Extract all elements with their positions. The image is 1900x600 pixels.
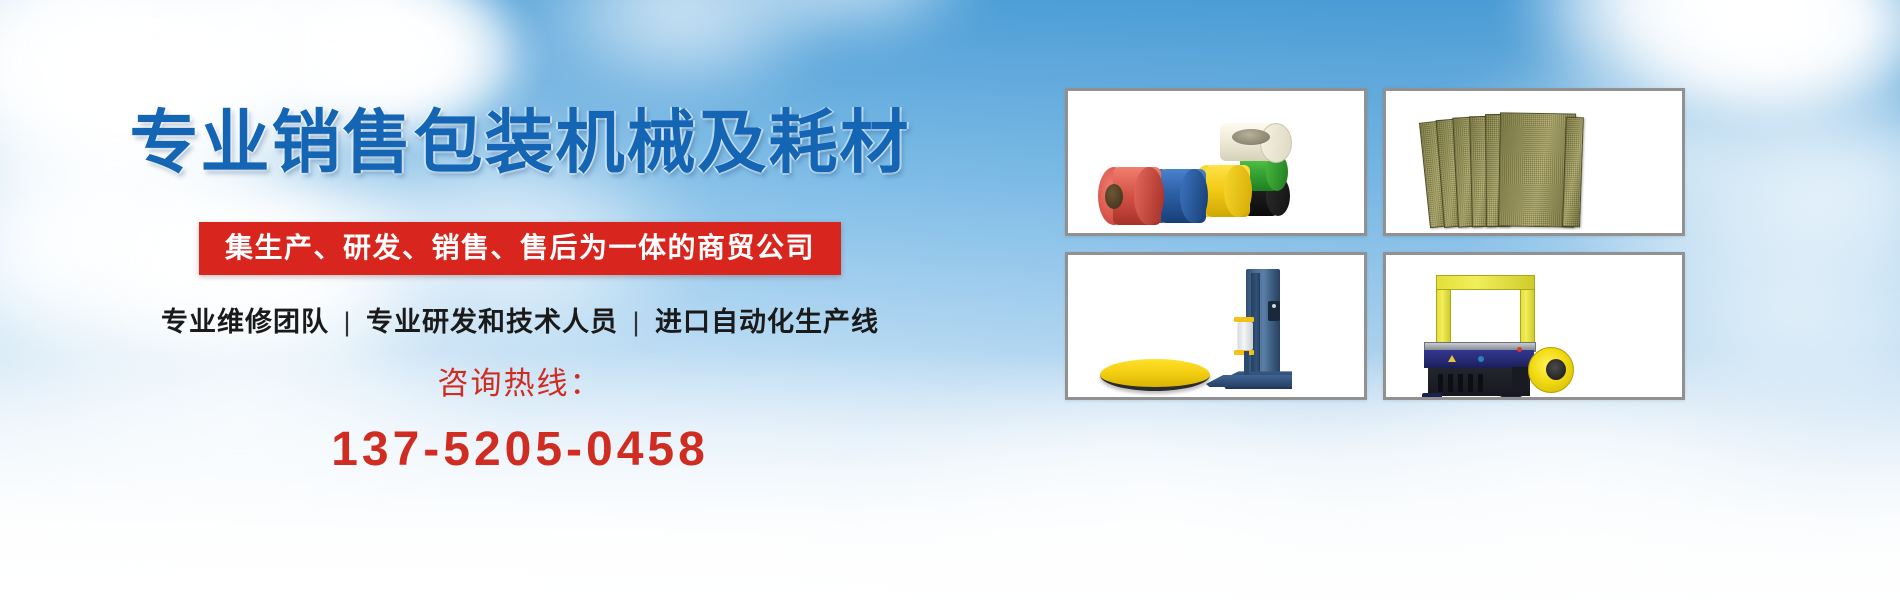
machine-foot-left: [1422, 393, 1442, 400]
strapping-machine-image: [1386, 255, 1682, 397]
product-gallery: [1065, 88, 1685, 400]
hotline-label: 咨询热线：: [0, 358, 1040, 403]
wrapper-turntable: [1100, 359, 1210, 391]
wrapper-indicator-light: [1272, 304, 1276, 308]
strap-roll-core: [1105, 184, 1123, 209]
woven-sacks-image: [1386, 91, 1682, 233]
feature-item-2: 专业研发和技术人员: [366, 307, 618, 337]
strap-roll-white: [1220, 123, 1290, 161]
warning-triangle-icon: [1448, 355, 1456, 362]
product-card-strapping-machine[interactable]: [1383, 252, 1685, 400]
woven-sack: [1562, 117, 1584, 228]
machine-vent-slot: [1478, 374, 1483, 392]
machine-reel-hub: [1546, 359, 1566, 380]
product-card-stretch-wrapper[interactable]: [1065, 252, 1367, 400]
promotional-banner: 专业销售包装机械及耗材 集生产、研发、销售、售后为一体的商贸公司 专业维修团队 …: [0, 0, 1900, 600]
machine-vent-slot: [1438, 374, 1443, 392]
tagline-badge: 集生产、研发、销售、售后为一体的商贸公司: [199, 222, 841, 275]
feature-item-3: 进口自动化生产线: [655, 307, 879, 337]
wrapper-carriage-arm: [1244, 351, 1249, 375]
wrapper-base-plate: [1206, 375, 1292, 387]
machine-button-icon: [1478, 356, 1484, 362]
feature-separator: |: [627, 307, 647, 337]
feature-separator: |: [337, 307, 357, 337]
machine-power-light: [1517, 347, 1522, 352]
feature-list: 专业维修团队 | 专业研发和技术人员 | 进口自动化生产线: [0, 300, 1040, 339]
page-title: 专业销售包装机械及耗材: [0, 108, 1040, 177]
machine-foot-right: [1500, 396, 1522, 400]
machine-arch-top: [1436, 275, 1535, 290]
product-card-packing-straps[interactable]: [1065, 88, 1367, 236]
packing-straps-image: [1068, 91, 1364, 233]
headline-text-block: 专业销售包装机械及耗材 集生产、研发、销售、售后为一体的商贸公司 专业维修团队 …: [0, 0, 1040, 600]
machine-side-panel: [1512, 367, 1528, 389]
machine-vent-slot: [1448, 374, 1453, 392]
product-card-woven-sacks[interactable]: [1383, 88, 1685, 236]
feature-item-1: 专业维修团队: [161, 307, 329, 337]
machine-vent-slot: [1458, 374, 1463, 392]
tagline-container: 集生产、研发、销售、售后为一体的商贸公司: [0, 222, 1040, 275]
hotline-phone-number[interactable]: 137-5205-0458: [0, 422, 1040, 477]
stretch-wrapper-image: [1068, 255, 1364, 397]
strap-roll-red: [1098, 167, 1164, 225]
wrapper-stretch-film-roll: [1238, 322, 1253, 350]
machine-vent-slot: [1468, 374, 1473, 392]
